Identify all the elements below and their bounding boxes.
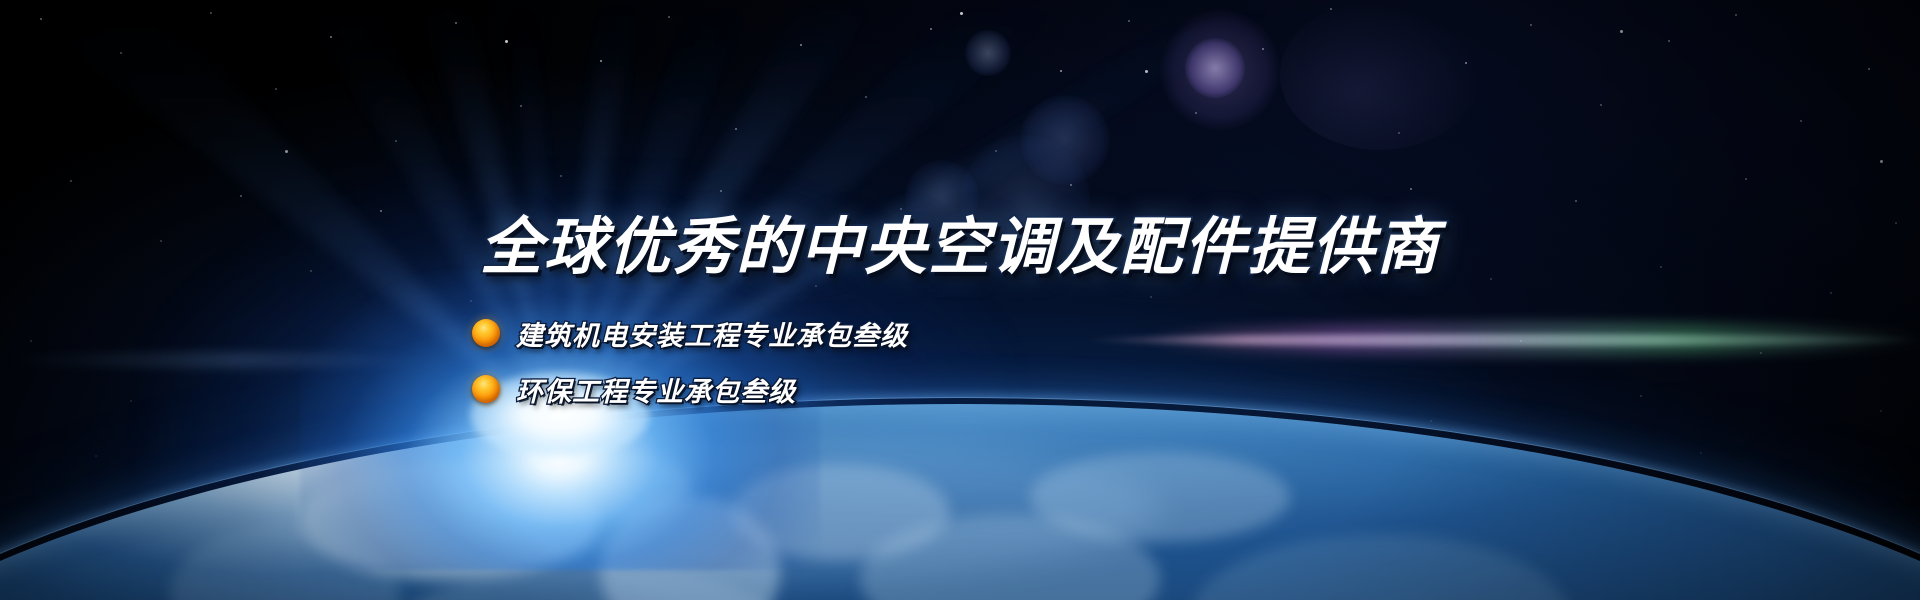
certification-list: 建筑机电安装工程专业承包叁级 环保工程专业承包叁级: [472, 306, 1372, 418]
orange-sphere-bullet-icon: [472, 319, 500, 347]
banner-content: 全球优秀的中央空调及配件提供商 建筑机电安装工程专业承包叁级 环保工程专业承包叁…: [0, 0, 1920, 600]
list-item-label: 建筑机电安装工程专业承包叁级: [516, 314, 908, 353]
orange-sphere-bullet-icon: [472, 375, 500, 403]
list-item: 环保工程专业承包叁级: [472, 362, 1372, 416]
list-item-label: 环保工程专业承包叁级: [516, 370, 796, 409]
list-item: 建筑机电安装工程专业承包叁级: [472, 306, 1372, 360]
hero-banner: 全球优秀的中央空调及配件提供商 建筑机电安装工程专业承包叁级 环保工程专业承包叁…: [0, 0, 1920, 600]
page-title: 全球优秀的中央空调及配件提供商: [0, 196, 1920, 286]
